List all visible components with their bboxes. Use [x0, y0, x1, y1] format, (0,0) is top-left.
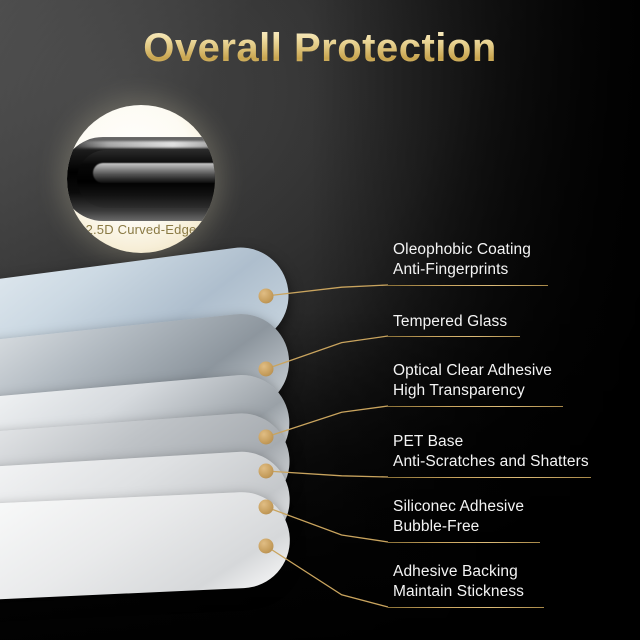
label-line-1: PET Base [393, 433, 463, 450]
label-rule-adhesive-backing [388, 607, 544, 608]
label-line-2: Maintain Stickness [393, 582, 524, 602]
layer-backing [0, 490, 292, 606]
label-line-2: Anti-Fingerprints [393, 260, 531, 280]
label-line-2: High Transparency [393, 381, 552, 401]
callout-label-siliconec-adhesive: Siliconec AdhesiveBubble-Free [393, 497, 524, 537]
label-line-1: Tempered Glass [393, 313, 507, 330]
label-line-1: Optical Clear Adhesive [393, 362, 552, 379]
label-rule-optical-clear-adhesive [388, 406, 563, 407]
inset-caption: 2.5D Curved-Edge [67, 222, 215, 237]
curved-edge-inset: 2.5D Curved-Edge [67, 105, 215, 253]
callout-label-oleophobic: Oleophobic CoatingAnti-Fingerprints [393, 240, 531, 280]
layer-stack [0, 250, 400, 610]
callout-label-tempered-glass: Tempered Glass [393, 312, 507, 332]
page-title: Overall Protection [0, 26, 640, 70]
callout-dot-optical-clear-adhesive[interactable] [259, 430, 274, 445]
label-line-1: Adhesive Backing [393, 563, 518, 580]
label-rule-tempered-glass [388, 336, 520, 337]
callout-dot-adhesive-backing[interactable] [259, 539, 274, 554]
phone-edge-highlight [71, 141, 215, 148]
callout-dot-pet-base[interactable] [259, 464, 274, 479]
phone-edge-gloss [93, 163, 215, 183]
callout-dot-tempered-glass[interactable] [259, 362, 274, 377]
label-line-2: Bubble-Free [393, 517, 524, 537]
label-rule-pet-base [388, 477, 591, 478]
callout-label-pet-base: PET BaseAnti-Scratches and Shatters [393, 432, 589, 472]
label-line-1: Oleophobic Coating [393, 241, 531, 258]
label-line-1: Siliconec Adhesive [393, 498, 524, 515]
label-rule-oleophobic [388, 285, 548, 286]
callout-dot-siliconec-adhesive[interactable] [259, 500, 274, 515]
callout-label-adhesive-backing: Adhesive BackingMaintain Stickness [393, 562, 524, 602]
product-infographic: Overall Protection 2.5D Curved-Edge Oleo… [0, 0, 640, 640]
callout-dot-oleophobic[interactable] [259, 289, 274, 304]
label-rule-siliconec-adhesive [388, 542, 540, 543]
callout-label-optical-clear-adhesive: Optical Clear AdhesiveHigh Transparency [393, 361, 552, 401]
label-line-2: Anti-Scratches and Shatters [393, 452, 589, 472]
